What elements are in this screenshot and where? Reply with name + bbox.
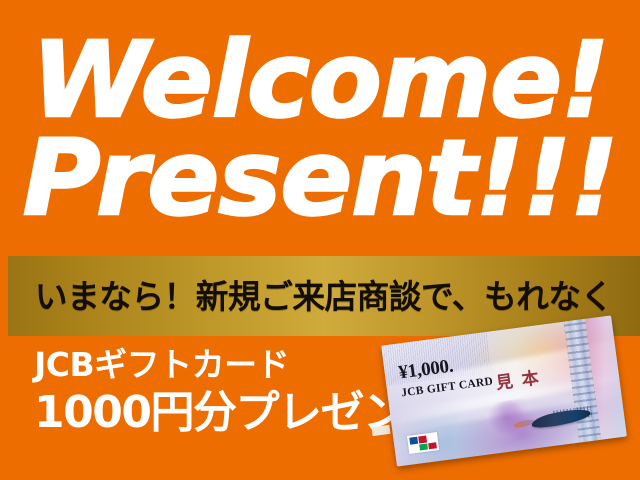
- jcb-logo-cell: [410, 444, 419, 451]
- jcb-logo-cell: [409, 437, 418, 444]
- jcb-logo-icon: [407, 432, 439, 454]
- gift-card-body: ¥1,000. JCB GIFT CARD 見本: [381, 315, 627, 466]
- gift-card-photo: ¥1,000. JCB GIFT CARD 見本: [381, 315, 627, 466]
- jcb-logo-cell: [418, 436, 427, 443]
- offer-line-amount: 1000円分プレゼント: [34, 387, 414, 439]
- offer-copy: JCBギフトカード 1000円分プレゼント: [34, 345, 414, 439]
- jcb-logo-cell: [428, 442, 437, 449]
- jcb-logo-cell: [427, 434, 436, 441]
- jcb-logo-cell: [419, 443, 428, 450]
- headline-present: Present!!!: [0, 126, 640, 230]
- headline-block: Welcome! Present!!!: [0, 0, 640, 256]
- promo-poster: Welcome! Present!!! いまなら！新規ご来店商談で、もれなく J…: [0, 0, 640, 480]
- offer-line-product: JCBギフトカード: [34, 345, 414, 385]
- gold-banner-text: いまなら！新規ご来店商談で、もれなく: [35, 280, 613, 313]
